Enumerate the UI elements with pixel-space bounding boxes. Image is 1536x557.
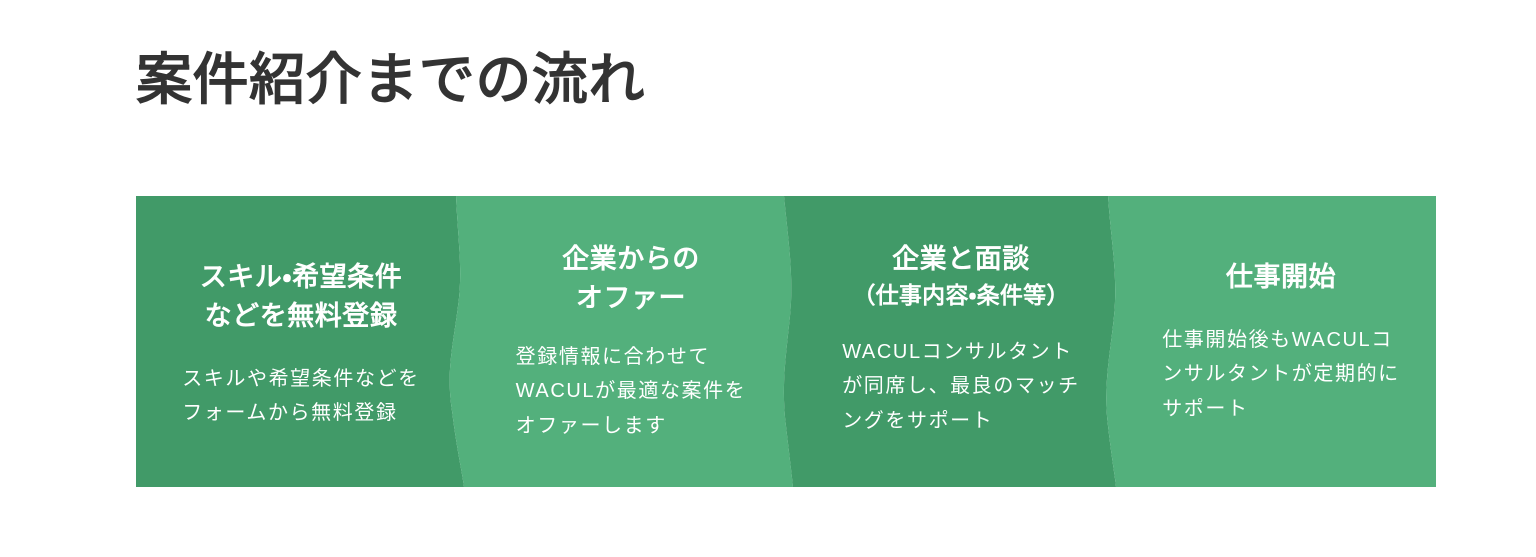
flow-step-2: 企業からの オファー 登録情報に合わせて WACULが最適な案件を オファーしま… — [466, 196, 796, 487]
page-title: 案件紹介までの流れ — [136, 48, 645, 112]
flow-step-2-title: 企業からの オファー — [562, 240, 700, 318]
flow-step-4: 仕事開始 仕事開始後もWACULコ ンサルタントが定期的に サポート — [1126, 196, 1436, 487]
flow-step-3-subtitle: （仕事内容・条件等） — [852, 281, 1069, 311]
flow-step-3-body: WACULコンサルタント が同席し、最良のマッチ ングをサポート — [842, 335, 1080, 438]
flow-step-2-body: 登録情報に合わせて WACULが最適な案件を オファーします — [516, 340, 747, 443]
flow-step-3-title: 企業と面談 — [892, 240, 1030, 279]
flow-step-3: 企業と面談 （仕事内容・条件等） WACULコンサルタント が同席し、最良のマッ… — [796, 196, 1126, 487]
flow-step-4-body: 仕事開始後もWACULコ ンサルタントが定期的に サポート — [1162, 323, 1400, 426]
flow-banner: スキル・希望条件 などを無料登録 スキルや希望条件などを フォームから無料登録 … — [136, 196, 1436, 487]
flow-steps: スキル・希望条件 などを無料登録 スキルや希望条件などを フォームから無料登録 … — [136, 196, 1436, 487]
flow-step-1-body: スキルや希望条件などを フォームから無料登録 — [182, 362, 420, 431]
flow-step-1: スキル・希望条件 などを無料登録 スキルや希望条件などを フォームから無料登録 — [136, 196, 466, 487]
flow-step-1-title: スキル・希望条件 などを無料登録 — [200, 258, 403, 336]
flow-step-4-title: 仕事開始 — [1226, 258, 1336, 297]
